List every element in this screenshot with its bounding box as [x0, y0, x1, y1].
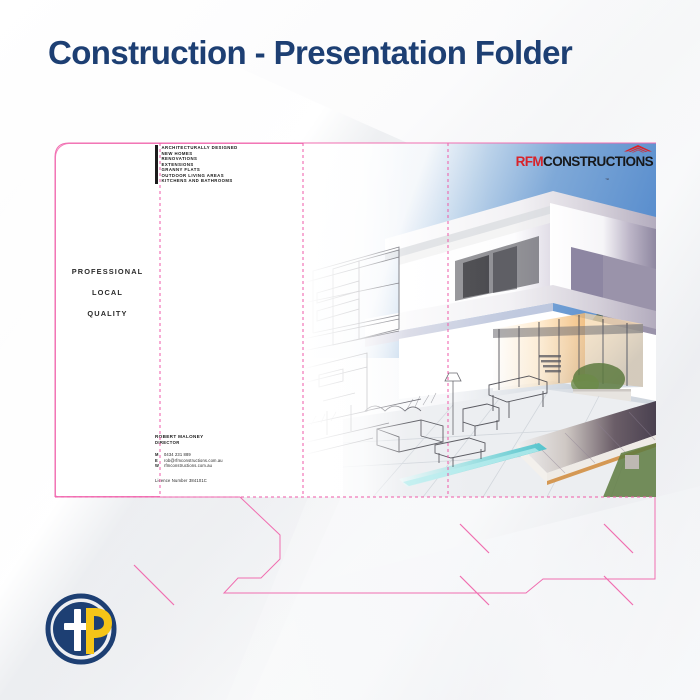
brand-logo-badge	[44, 592, 118, 666]
product-image-canvas: Construction - Presentation Folder	[0, 0, 700, 700]
folder-dieline-artwork: PROFESSIONAL LOCAL QUALITY ARCHITECTURAL…	[48, 131, 663, 591]
dieline-overlay	[48, 131, 663, 591]
page-title: Construction - Presentation Folder	[48, 34, 572, 72]
